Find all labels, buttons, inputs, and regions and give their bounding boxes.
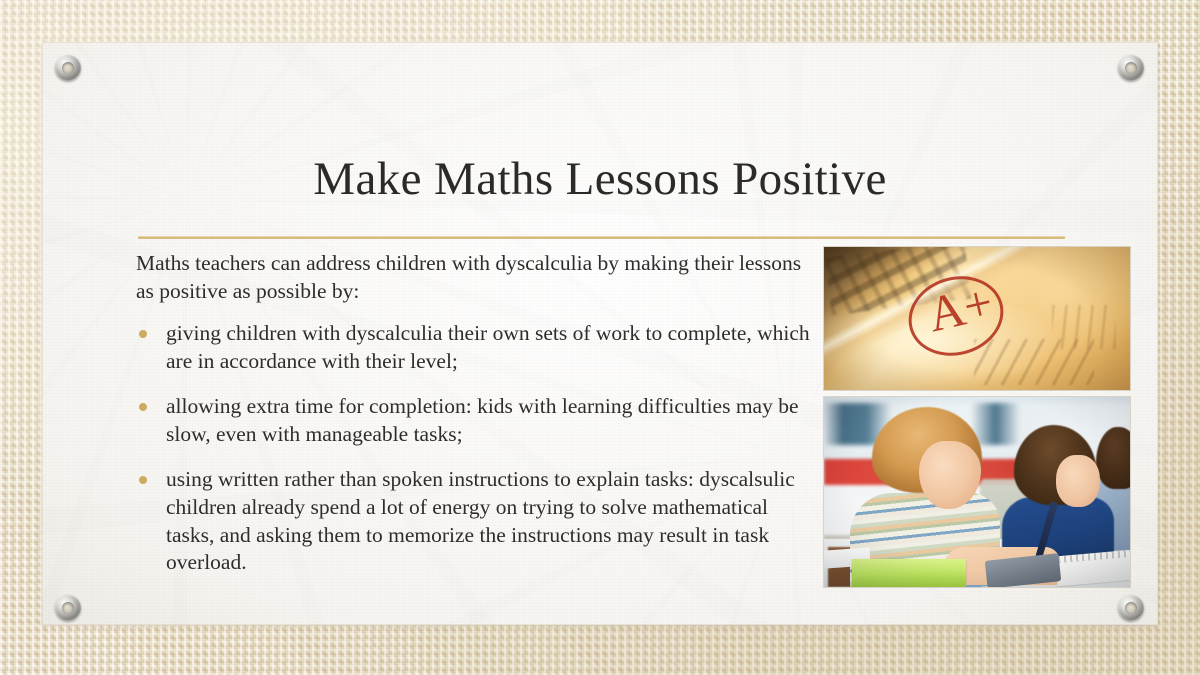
list-item-text: using written rather than spoken instruc… <box>166 467 795 575</box>
graded-paper-a-plus-photo: A+ <box>824 247 1130 390</box>
bullet-list: giving children with dyscalculia their o… <box>136 320 816 578</box>
grommet-icon-bottom-left <box>55 595 81 621</box>
list-item: giving children with dyscalculia their o… <box>136 320 816 376</box>
list-item-text: giving children with dyscalculia their o… <box>166 321 810 373</box>
children-in-classroom-photo <box>824 397 1130 587</box>
grommet-icon-bottom-right <box>1118 595 1144 621</box>
bullet-dot-icon <box>139 330 147 338</box>
photo-vignette <box>824 247 1130 390</box>
grommet-icon-top-left <box>55 55 81 81</box>
title-divider-rule <box>138 236 1065 239</box>
list-item: allowing extra time for completion: kids… <box>136 393 816 449</box>
grommet-icon-top-right <box>1118 55 1144 81</box>
photo-vignette <box>824 397 1130 587</box>
bullet-dot-icon <box>139 476 147 484</box>
slide-body-content: Maths teachers can address children with… <box>136 250 816 577</box>
list-item: using written rather than spoken instruc… <box>136 466 816 578</box>
bullet-dot-icon <box>139 403 147 411</box>
list-item-text: allowing extra time for completion: kids… <box>166 394 799 446</box>
intro-paragraph: Maths teachers can address children with… <box>136 250 816 306</box>
page-title: Make Maths Lessons Positive <box>42 155 1158 204</box>
